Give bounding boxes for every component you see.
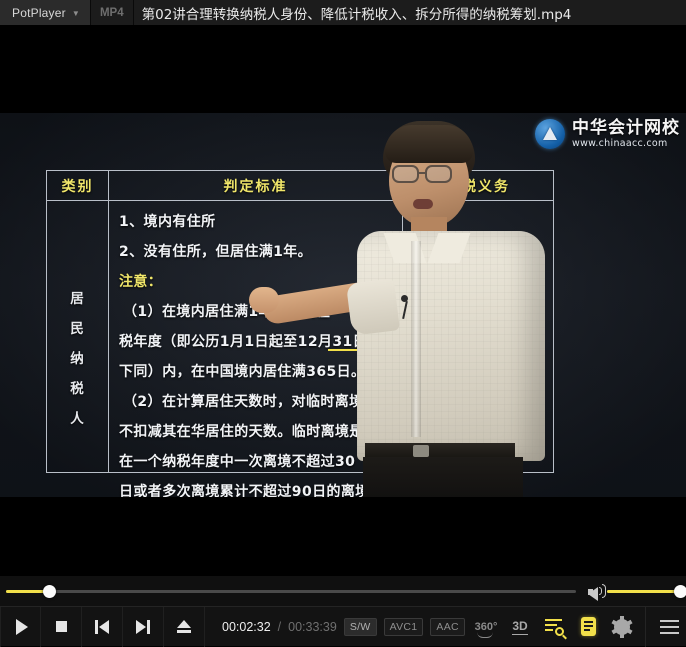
- list-search-icon: [545, 619, 563, 634]
- next-button[interactable]: [123, 607, 164, 647]
- file-title: 第02讲合理转换纳税人身份、降低计税收入、拆分所得的纳税筹划.mp4: [134, 0, 580, 25]
- play-button[interactable]: [0, 607, 41, 647]
- watermark-logo: 中华会计网校 www.chinaacc.com: [535, 119, 680, 149]
- status-badge-sw: S/W: [344, 618, 377, 636]
- previous-button[interactable]: [82, 607, 123, 647]
- time-separator: /: [278, 620, 281, 634]
- button-row: 00:02:32 / 00:33:39 S/W AVC1 AAC 360° 3D: [0, 606, 686, 646]
- category-char: 纳: [70, 347, 85, 367]
- gear-icon: [614, 619, 630, 635]
- tv3d-button[interactable]: 3D: [503, 607, 537, 647]
- lecturer-figure: [355, 113, 570, 497]
- status-badge-audio-codec: AAC: [430, 618, 465, 636]
- volume-thumb[interactable]: [674, 585, 686, 598]
- stop-button[interactable]: [41, 607, 82, 647]
- video-frame: 中华会计网校 www.chinaacc.com 类别 判定标准 纳税义务 居 民…: [0, 113, 686, 497]
- playlist-icon: [581, 617, 596, 636]
- seek-bar[interactable]: [6, 576, 576, 606]
- column-header-category: 类别: [47, 171, 109, 200]
- app-tab-potplayer[interactable]: PotPlayer ▼: [0, 0, 91, 25]
- total-time: 00:33:39: [288, 620, 337, 634]
- volume-fill: [607, 590, 680, 593]
- next-icon: [136, 620, 150, 634]
- eject-button[interactable]: [164, 607, 205, 647]
- category-char: 税: [70, 377, 85, 397]
- logo-brand-url: www.chinaacc.com: [572, 139, 680, 149]
- playlist-button[interactable]: [571, 607, 605, 647]
- format-label: MP4: [91, 0, 134, 25]
- previous-icon: [95, 620, 109, 634]
- current-time: 00:02:32: [222, 620, 271, 634]
- category-char: 人: [70, 407, 85, 427]
- logo-brand-cn: 中华会计网校: [572, 120, 680, 137]
- volume-control[interactable]: [588, 576, 680, 606]
- volume-track[interactable]: [607, 590, 680, 593]
- time-display: 00:02:32 / 00:33:39 S/W AVC1 AAC: [205, 607, 465, 647]
- app-tab-label: PotPlayer: [12, 6, 66, 20]
- logo-mark-icon: [535, 119, 565, 149]
- toolbar-divider: [645, 607, 646, 647]
- category-char: 居: [70, 287, 85, 307]
- play-icon: [16, 619, 28, 635]
- list-search-button[interactable]: [537, 607, 571, 647]
- tv3d-label: 3D: [512, 619, 527, 635]
- status-badge-video-codec: AVC1: [384, 618, 424, 636]
- cell-category: 居 民 纳 税 人: [47, 201, 109, 473]
- control-bar: 00:02:32 / 00:33:39 S/W AVC1 AAC 360° 3D: [0, 575, 686, 645]
- titlebar: PotPlayer ▼ MP4 第02讲合理转换纳税人身份、降低计税收入、拆分所…: [0, 0, 686, 26]
- speaker-icon[interactable]: [588, 584, 603, 598]
- chevron-down-icon[interactable]: ▼: [72, 9, 80, 18]
- seek-track[interactable]: [6, 590, 576, 593]
- vr360-label: 360°: [475, 621, 498, 633]
- category-char: 民: [70, 317, 85, 337]
- stop-icon: [56, 621, 67, 632]
- seek-thumb[interactable]: [43, 585, 56, 598]
- slider-row: [0, 576, 686, 606]
- vr360-button[interactable]: 360°: [469, 607, 503, 647]
- menu-button[interactable]: [652, 607, 686, 647]
- hamburger-menu-icon: [660, 620, 679, 634]
- eject-icon: [177, 620, 191, 633]
- video-surface[interactable]: 中华会计网校 www.chinaacc.com 类别 判定标准 纳税义务 居 民…: [0, 26, 686, 575]
- settings-button[interactable]: [605, 607, 639, 647]
